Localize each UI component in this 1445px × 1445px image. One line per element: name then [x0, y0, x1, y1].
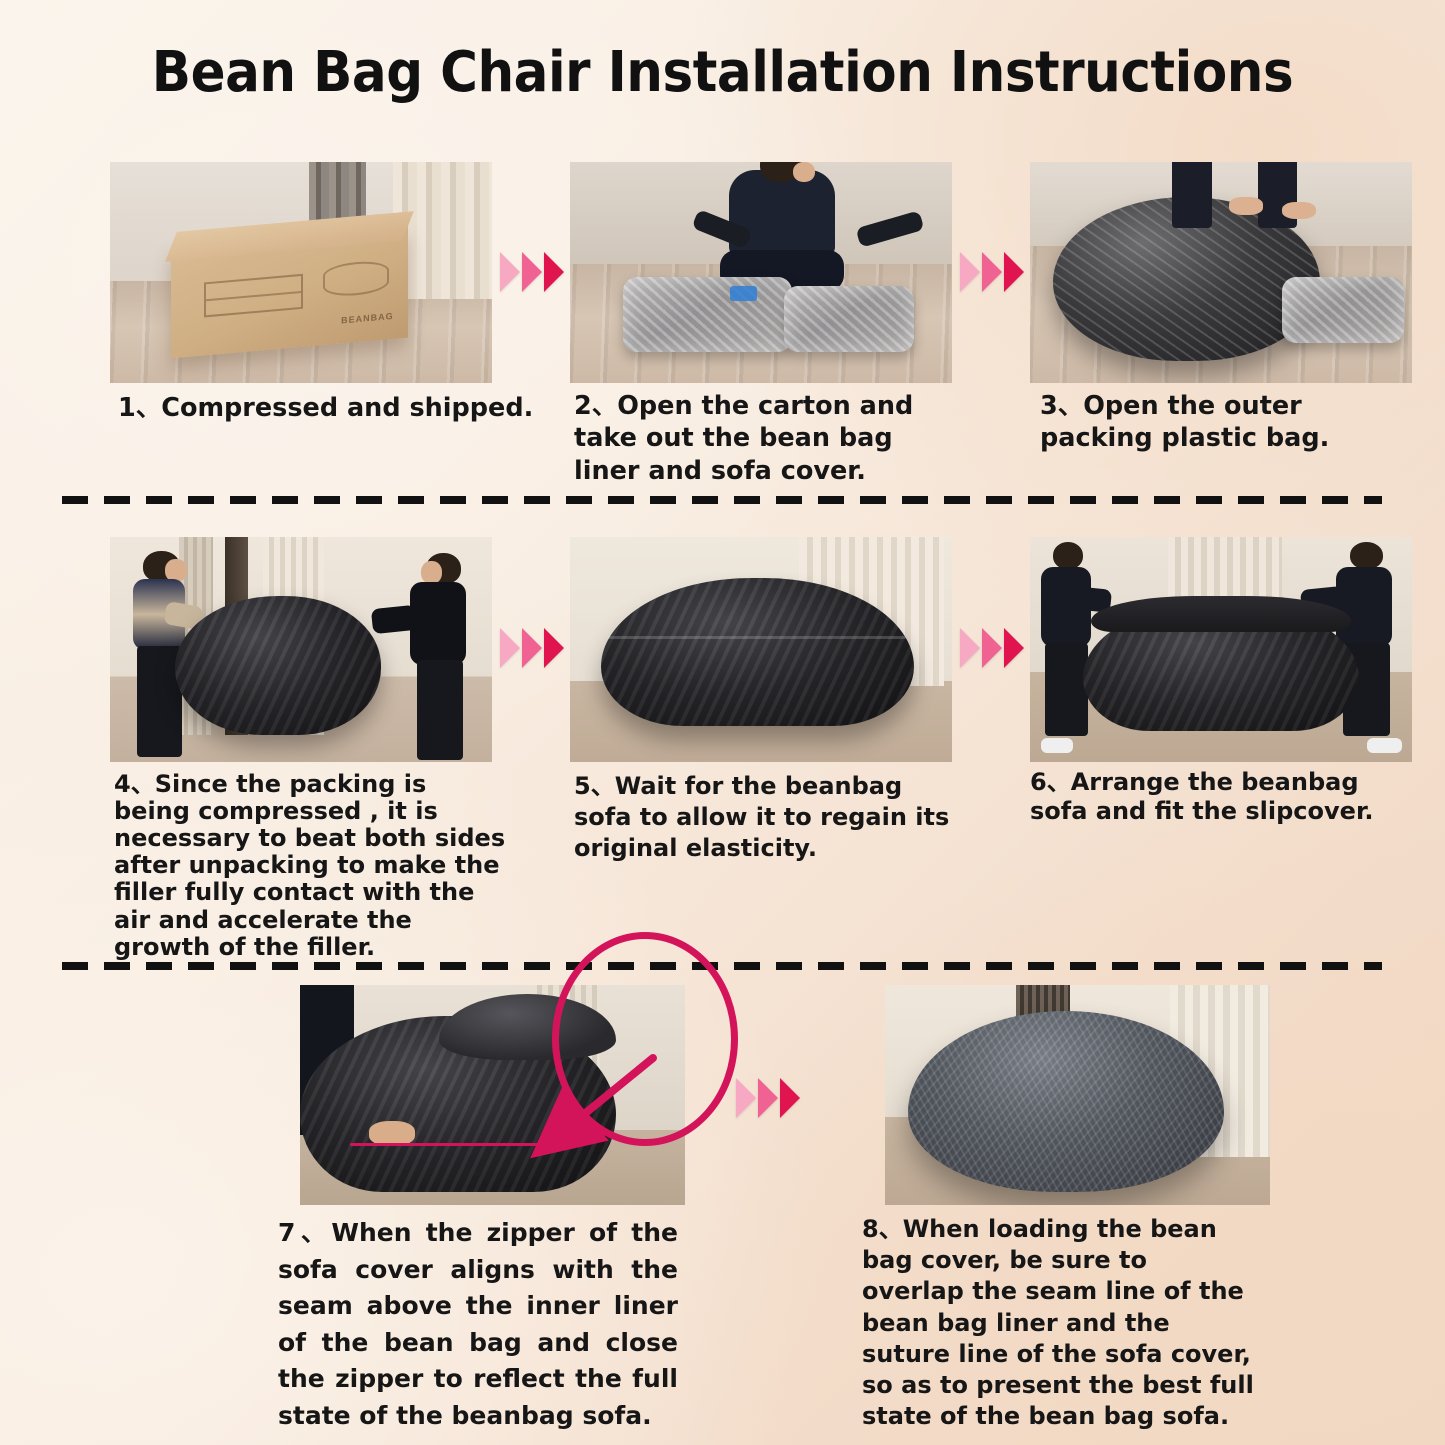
chevron-right-icon — [500, 252, 520, 292]
person-right-graphic — [400, 553, 484, 760]
chevron-right-icon — [544, 628, 564, 668]
chevron-right-icon — [500, 628, 520, 668]
chevron-right-icon — [522, 252, 542, 292]
chevron-right-icon — [544, 252, 564, 292]
vacuum-pack-small — [784, 286, 914, 352]
arrow-step4-to-step5 — [500, 628, 564, 668]
step-3-caption: 3、Open the outer packing plastic bag. — [1040, 390, 1415, 455]
chevron-right-icon — [960, 252, 980, 292]
step-4-caption: 4、Since the packing is being compressed … — [114, 771, 506, 961]
arrow-step7-to-step8 — [736, 1078, 800, 1118]
step-2-caption: 2、Open the carton and take out the bean … — [574, 390, 966, 487]
step-5-caption: 5、Wait for the beanbag sofa to allow it … — [574, 771, 956, 865]
step-1-photo: BEANBAG — [110, 162, 492, 383]
page-title: Bean Bag Chair Installation Instructions — [58, 40, 1387, 105]
step-8-photo — [885, 985, 1270, 1205]
step-1-caption: 1、Compressed and shipped. — [118, 392, 538, 424]
arrow-step1-to-step2 — [500, 252, 564, 292]
carton-box-graphic: BEANBAG — [171, 227, 408, 358]
vacuum-pack-large — [623, 277, 791, 352]
step-7-caption: 7、When the zipper of the sofa cover alig… — [278, 1215, 678, 1434]
step-3-photo — [1030, 162, 1412, 383]
vacuum-pack-secondary — [1282, 277, 1404, 343]
chevron-right-icon — [736, 1078, 756, 1118]
chevron-right-icon — [982, 252, 1002, 292]
divider-row2-row3 — [62, 962, 1382, 970]
step-6-caption: 6、Arrange the beanbag sofa and fit the s… — [1030, 768, 1420, 827]
step-8-caption: 8、When loading the bean bag cover, be su… — [862, 1214, 1254, 1432]
chevron-right-icon — [982, 628, 1002, 668]
chevron-right-icon — [960, 628, 980, 668]
chevron-right-icon — [1004, 628, 1024, 668]
step-4-photo — [110, 537, 492, 762]
step-6-photo — [1030, 537, 1412, 762]
arrow-step5-to-step6 — [960, 628, 1024, 668]
step-7-photo — [300, 985, 685, 1205]
divider-row1-row2 — [62, 496, 1382, 504]
step-2-photo — [570, 162, 952, 383]
chevron-right-icon — [522, 628, 542, 668]
chevron-right-icon — [780, 1078, 800, 1118]
chevron-right-icon — [758, 1078, 778, 1118]
step-5-photo — [570, 537, 952, 762]
infographic-page: Bean Bag Chair Installation Instructions… — [0, 0, 1445, 1445]
arrow-step2-to-step3 — [960, 252, 1024, 292]
black-bean-bag-liner — [175, 596, 381, 736]
chevron-right-icon — [1004, 252, 1024, 292]
